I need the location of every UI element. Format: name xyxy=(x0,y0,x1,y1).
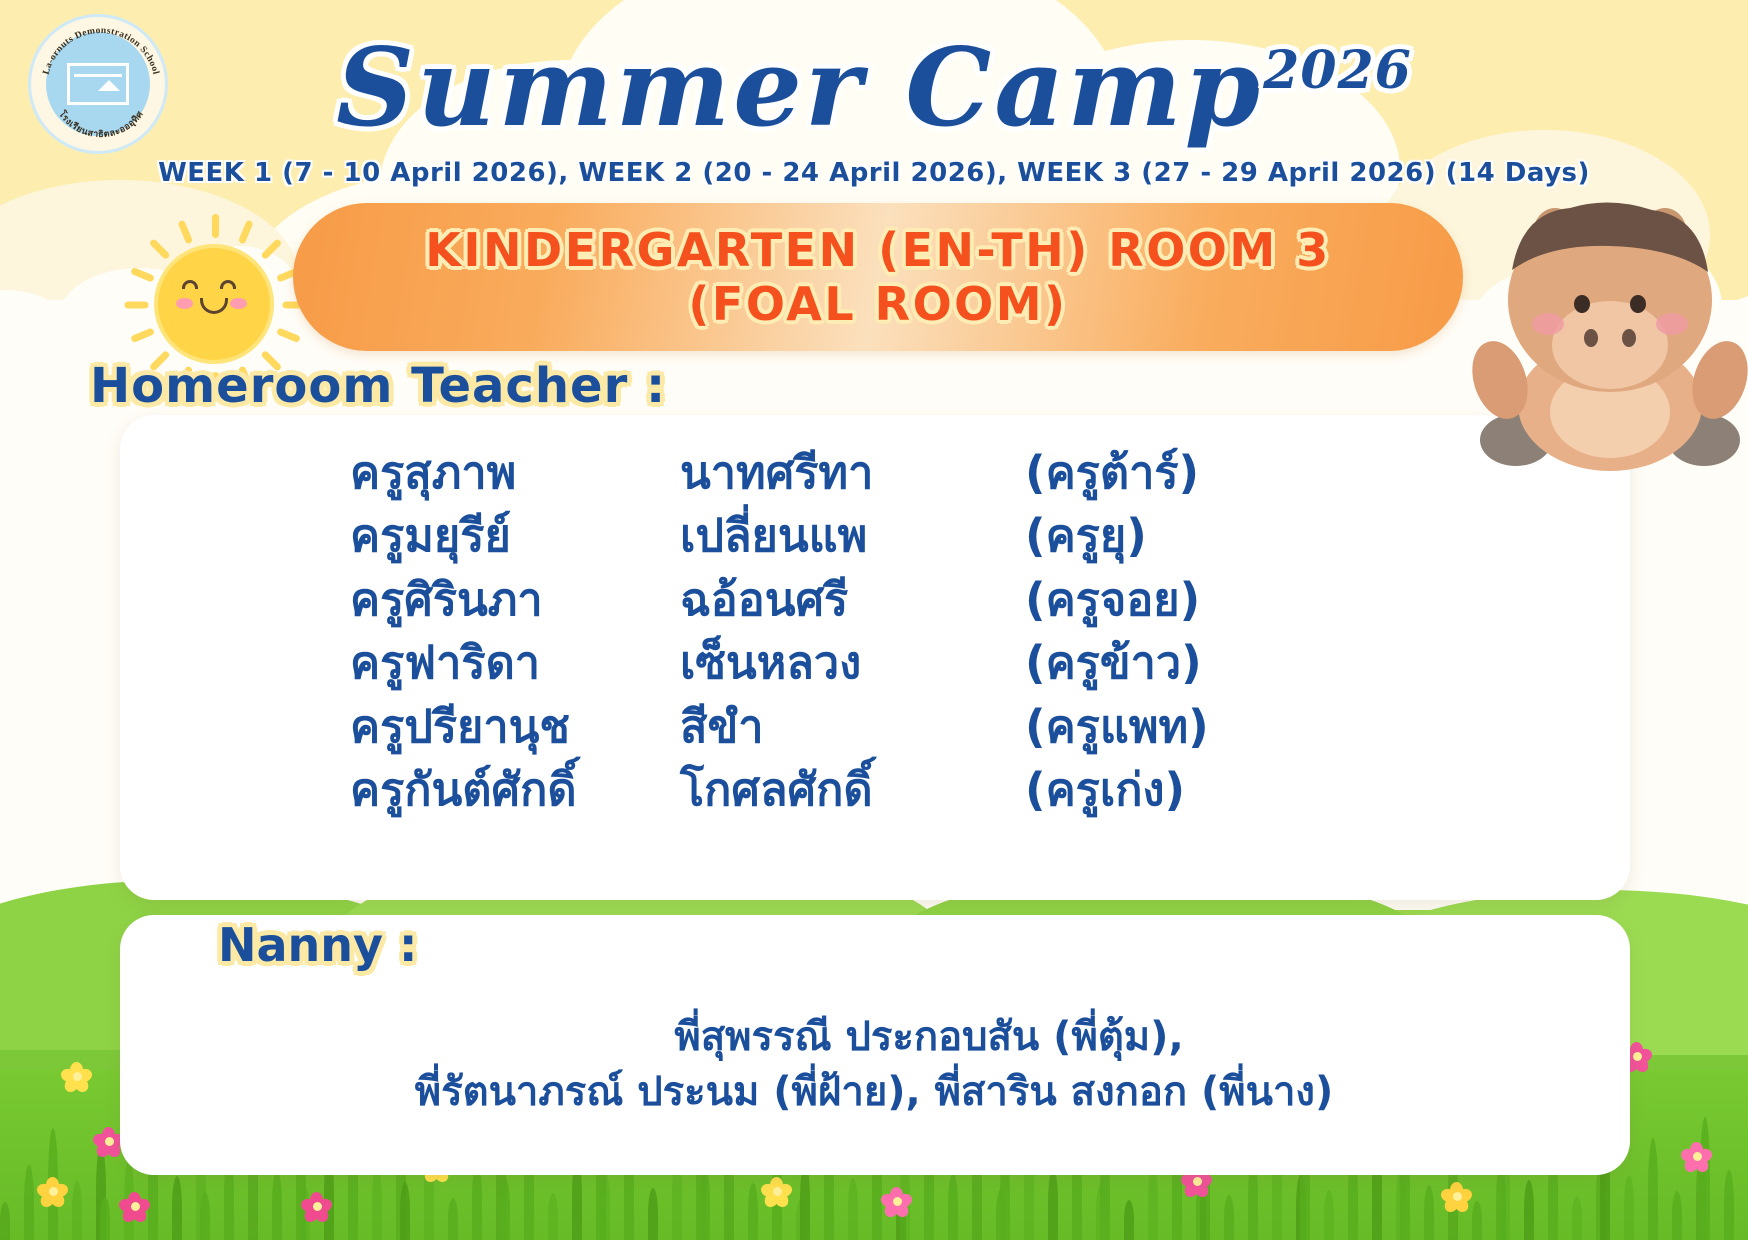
teacher-last-name: ฉอ้อนศรี xyxy=(680,570,1025,629)
flower-icon xyxy=(880,1185,914,1219)
sun-ray xyxy=(149,238,171,260)
teacher-last-name: โกศลศักดิ์ xyxy=(680,760,1025,819)
nanny-names: พี่สุพรรณี ประกอบสัน (พี่ตุ้ม), พี่รัตนา… xyxy=(0,1010,1748,1120)
banner-line-1: KINDERGARTEN (EN-TH) ROOM 3 xyxy=(425,223,1330,277)
flower-icon xyxy=(118,1190,152,1224)
summer-camp-poster: La-ornuts Demonstration School โรงเรียนส… xyxy=(0,0,1748,1240)
sun-eye-right xyxy=(220,280,236,289)
sun-ray xyxy=(130,327,155,343)
sun-ray xyxy=(130,267,155,283)
teacher-nickname: (ครูต้าร์) xyxy=(1025,443,1325,502)
sun-ray xyxy=(238,220,254,245)
nanny-line-1: พี่สุพรรณี ประกอบสัน (พี่ตุ้ม), xyxy=(0,1010,1748,1065)
homeroom-teacher-label: Homeroom Teacher : xyxy=(90,358,666,414)
teacher-nickname: (ครูแพท) xyxy=(1025,697,1325,756)
teacher-last-name: นาทศรีทา xyxy=(680,443,1025,502)
subtitle-weeks: WEEK 1 (7 - 10 April 2026), WEEK 2 (20 -… xyxy=(0,158,1748,188)
teacher-first-name: ครูปรียานุช xyxy=(350,697,680,756)
title-year: 2026 xyxy=(1263,40,1412,101)
room-banner: KINDERGARTEN (EN-TH) ROOM 3 (FOAL ROOM) xyxy=(293,203,1463,351)
flower-icon xyxy=(1680,1140,1714,1174)
sun-ray xyxy=(212,214,219,238)
teacher-row: ครูกันต์ศักดิ์โกศลศักดิ์(ครูเก่ง) xyxy=(350,760,1590,819)
teacher-nickname: (ครูเก่ง) xyxy=(1025,760,1325,819)
flower-icon xyxy=(760,1175,794,1209)
teacher-row: ครูศิรินภาฉอ้อนศรี(ครูจอย) xyxy=(350,570,1590,629)
teacher-row: ครูปรียานุชสีขำ(ครูแพท) xyxy=(350,697,1590,756)
sun-eye-left xyxy=(182,280,198,289)
teacher-first-name: ครูศิรินภา xyxy=(350,570,680,629)
sun-ray xyxy=(260,238,282,260)
nanny-line-2: พี่รัตนาภรณ์ ประนม (พี่ฝ้าย), พี่สาริน ส… xyxy=(0,1065,1748,1120)
teacher-first-name: ครูมยุรีย์ xyxy=(350,506,680,565)
horse-mascot-icon xyxy=(1460,190,1748,490)
teacher-row: ครูฟาริดาเซ็นหลวง(ครูข้าว) xyxy=(350,633,1590,692)
teacher-last-name: เซ็นหลวง xyxy=(680,633,1025,692)
sun-ray xyxy=(125,302,149,309)
teacher-rows: ครูสุภาพนาทศรีทา(ครูต้าร์)ครูมยุรีย์เปลี… xyxy=(160,443,1590,819)
page-title: Summer Camp2026 xyxy=(0,34,1748,142)
sun-ray xyxy=(276,327,301,343)
teacher-nickname: (ครูยุ) xyxy=(1025,506,1325,565)
teacher-last-name: สีขำ xyxy=(680,697,1025,756)
teacher-first-name: ครูกันต์ศักดิ์ xyxy=(350,760,680,819)
teacher-first-name: ครูฟาริดา xyxy=(350,633,680,692)
teacher-row: ครูมยุรีย์เปลี่ยนแพ(ครูยุ) xyxy=(350,506,1590,565)
banner-line-2: (FOAL ROOM) xyxy=(688,277,1067,331)
teacher-row: ครูสุภาพนาทศรีทา(ครูต้าร์) xyxy=(350,443,1590,502)
teacher-nickname: (ครูข้าว) xyxy=(1025,633,1325,692)
teacher-list-card: ครูสุภาพนาทศรีทา(ครูต้าร์)ครูมยุรีย์เปลี… xyxy=(120,415,1630,900)
teacher-last-name: เปลี่ยนแพ xyxy=(680,506,1025,565)
flower-icon xyxy=(1440,1180,1474,1214)
teacher-nickname: (ครูจอย) xyxy=(1025,570,1325,629)
teacher-first-name: ครูสุภาพ xyxy=(350,443,680,502)
flower-icon xyxy=(300,1190,334,1224)
flower-icon xyxy=(36,1175,70,1209)
nanny-label: Nanny : xyxy=(218,918,417,972)
title-main-text: Summer Camp xyxy=(336,25,1263,151)
sun-cheek-left xyxy=(176,298,193,309)
sun-cheek-right xyxy=(230,298,247,309)
sun-ray xyxy=(177,220,193,245)
